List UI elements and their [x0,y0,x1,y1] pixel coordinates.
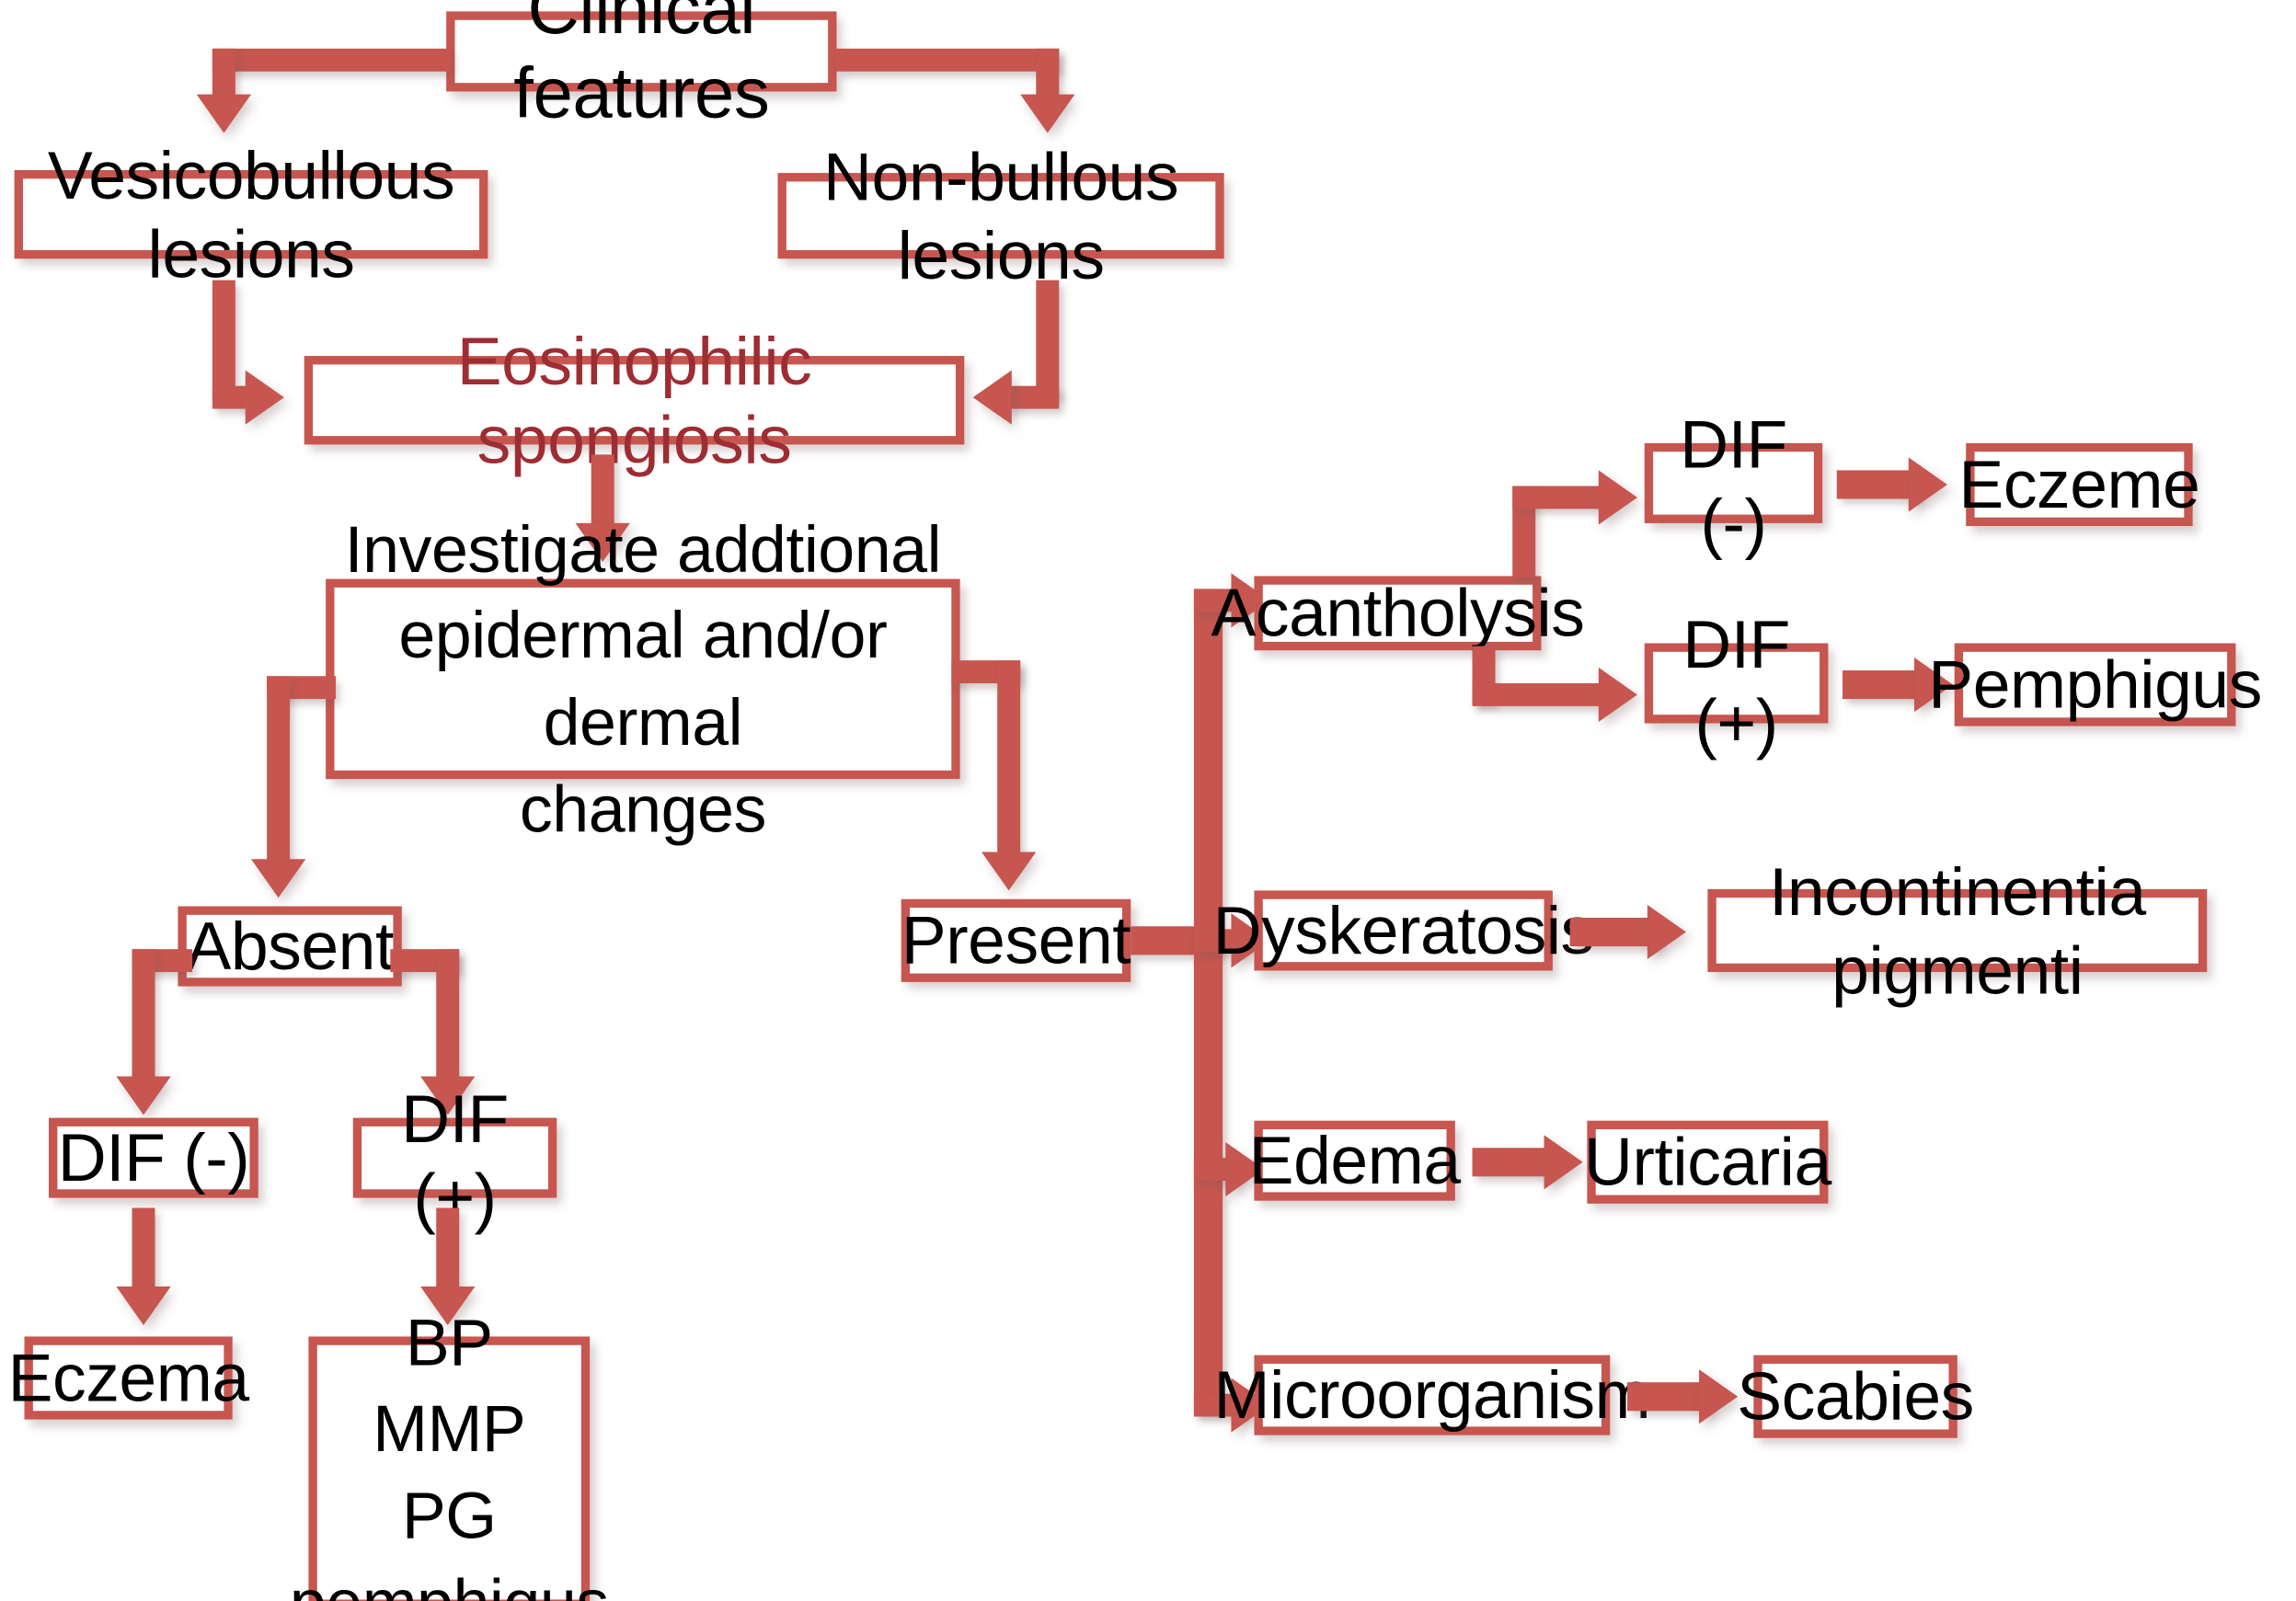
bp-line-4: pemphigus [290,1559,609,1601]
arrowhead-to-incontinentia [1647,905,1686,959]
investigate-line-3: changes [520,766,766,852]
node-edema[interactable]: Edema [1254,1121,1454,1201]
node-dif-positive-left[interactable]: DIF (+) [353,1118,557,1198]
investigate-line-1: Investigate addtional [345,506,941,592]
connector-dif-pos-to-pemphigus [1843,670,1925,699]
node-bp-mmp-pg-pemphigus[interactable]: BP MMP PG pemphigus [308,1336,590,1601]
bp-line-2: MMP [373,1386,525,1472]
node-vesicobullous-lesions[interactable]: Vesicobullous lesions [15,170,488,258]
node-acantholysis[interactable]: Acantholysis [1254,576,1541,650]
connector-nonbullous-left [1004,386,1059,409]
node-microorganism[interactable]: Microorganism [1254,1355,1610,1435]
investigate-line-2: epidermal and/or dermal [334,592,951,766]
connector-clinical-to-nonbullous-horizontal [836,49,1059,72]
node-present[interactable]: Present [901,899,1131,982]
bp-line-3: PG [402,1472,497,1559]
node-eczema[interactable]: Eczema [25,1336,233,1419]
node-investigate-additional-changes[interactable]: Investigate addtional epidermal and/or d… [326,579,960,780]
arrowhead-to-vesicobullous [197,95,251,133]
connector-vesicobullous-down [212,280,235,397]
arrowhead-to-nonbullous [1020,95,1074,133]
arrowhead-to-absent [251,859,305,898]
connector-nonbullous-down [1036,280,1059,397]
connector-dif-pos-to-bp-group [436,1208,459,1297]
node-clinical-features[interactable]: Clinical features [446,11,836,91]
node-incontinentia-pigmenti[interactable]: Incontinentia pigmenti [1707,889,2207,972]
arrowhead-to-eosinophilic-left [246,371,284,425]
arrowhead-to-eczeme [1909,457,1947,511]
bp-line-1: BP [406,1298,493,1385]
node-pemphigus[interactable]: Pemphigus [1955,644,2236,726]
arrowhead-to-dif-pos-right [1599,668,1637,722]
node-eosinophilic-spongiosis[interactable]: Eosinophilic spongiosis [304,356,965,444]
node-non-bullous-lesions[interactable]: Non-bullous lesions [778,173,1224,258]
node-absent[interactable]: Absent [178,907,401,987]
flowchart-canvas: Clinical features Vesicobullous lesions … [0,0,2296,1601]
connector-clinical-to-vesicobullous-horizontal [212,49,451,72]
connector-dif-neg-to-eczeme [1837,470,1920,498]
node-dif-negative-right[interactable]: DIF (-) [1645,443,1822,523]
connector-investigate-to-present-vertical [997,660,1020,861]
connector-microorganism-to-scabies [1627,1382,1710,1411]
connector-investigate-to-absent-vertical [267,676,290,869]
connector-absent-to-dif-pos-vertical [436,949,459,1086]
node-dyskeratosis[interactable]: Dyskeratosis [1254,890,1552,970]
arrowhead-to-present [982,852,1036,890]
connector-absent-to-dif-neg-vertical [132,949,155,1086]
arrowhead-to-dif-neg-right [1599,470,1637,524]
arrowhead-to-eczema [116,1287,170,1325]
connector-edema-to-urticaria [1473,1148,1556,1176]
arrowhead-to-eosinophilic-right [973,371,1012,425]
node-dif-negative-left[interactable]: DIF (-) [49,1118,258,1198]
connector-acantholysis-to-dif-neg-horizontal [1512,486,1607,509]
arrowhead-to-dif-neg-left [116,1077,170,1115]
node-scabies[interactable]: Scabies [1753,1355,1957,1438]
arrowhead-to-scabies [1699,1369,1738,1424]
node-dif-positive-right[interactable]: DIF (+) [1645,644,1829,724]
arrowhead-to-urticaria [1544,1135,1583,1189]
connector-dif-neg-to-eczema [132,1208,155,1297]
connector-acantholysis-to-dif-pos-horizontal [1473,683,1608,706]
node-urticaria[interactable]: Urticaria [1587,1121,1828,1204]
node-eczeme[interactable]: Eczeme [1966,443,2192,526]
connector-right-spine [1194,589,1223,1412]
connector-dyskeratosis-to-incontinentia [1570,918,1659,946]
